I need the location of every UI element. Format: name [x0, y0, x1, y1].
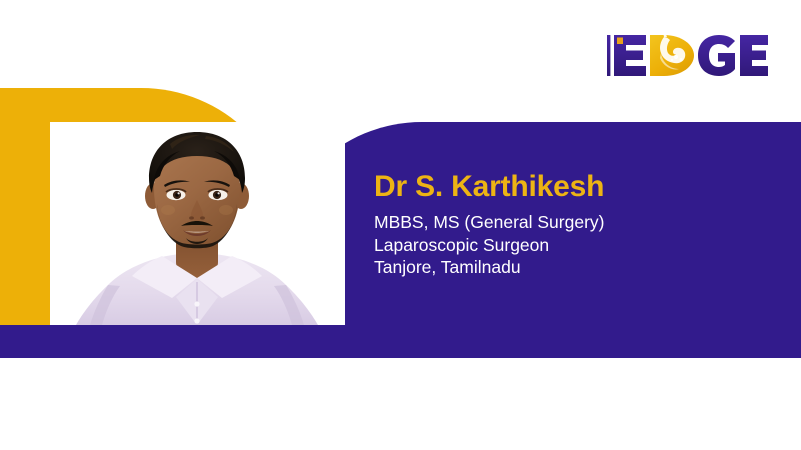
- edge-logo-letter-e1: [607, 35, 646, 76]
- credential-line: Laparoscopic Surgeon: [374, 234, 774, 257]
- speaker-text-block: Dr S. Karthikesh MBBS, MS (General Surge…: [374, 168, 774, 279]
- speaker-photo-card: [50, 122, 345, 325]
- credential-line: MBBS, MS (General Surgery): [374, 211, 774, 234]
- speaker-credentials: MBBS, MS (General Surgery) Laparoscopic …: [374, 211, 774, 279]
- speaker-name: Dr S. Karthikesh: [374, 168, 774, 206]
- edge-logo: [604, 26, 770, 84]
- edge-logo-letter-g: [698, 35, 735, 76]
- edge-logo-wordmark: [604, 26, 770, 84]
- speaker-intro-slide: Dr S. Karthikesh MBBS, MS (General Surge…: [0, 0, 801, 450]
- purple-panel-footer-band: [0, 325, 801, 358]
- logo-accent-mark: [617, 38, 623, 45]
- edge-logo-letter-e2: [740, 35, 768, 76]
- credential-line: Tanjore, Tamilnadu: [374, 256, 774, 279]
- edge-logo-letter-d-stomach-icon: [650, 30, 694, 76]
- speaker-portrait-photo: [50, 122, 345, 325]
